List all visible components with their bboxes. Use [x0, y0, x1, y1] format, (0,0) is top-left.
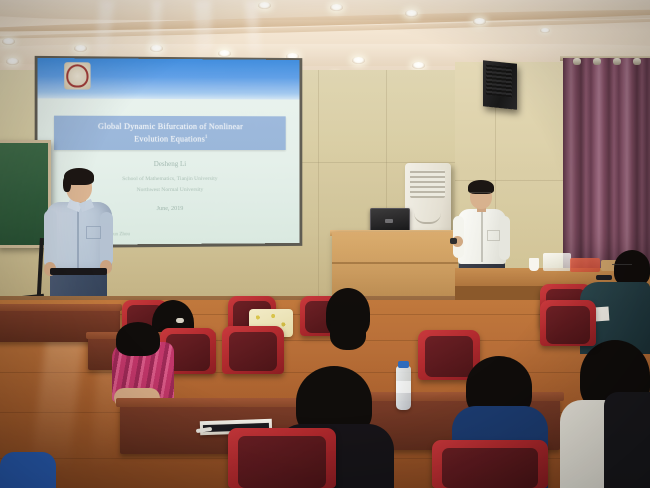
lecture-hall-photo: Global Dynamic Bifurcation of Nonlinear …: [0, 0, 650, 488]
downlight-icon: [74, 45, 87, 52]
paper-cup[interactable]: [529, 258, 539, 271]
seat-cushion: [238, 436, 326, 488]
presenter-left-hair: [63, 176, 71, 192]
slide-title-line-2: Evolution Equations1: [134, 132, 207, 145]
shirt-placket: [481, 212, 483, 262]
bottle-cap: [398, 361, 409, 368]
downlight-icon: [405, 10, 418, 17]
curtain-grommet: [633, 58, 641, 65]
marker-pen: [596, 275, 612, 280]
laptop-logo-icon: [385, 219, 393, 223]
downlight-icon: [218, 50, 231, 57]
presentation-clicker[interactable]: [450, 238, 457, 244]
speaker-grill: [486, 65, 512, 98]
presenter-left-arm: [44, 210, 57, 268]
downlight-icon: [6, 58, 19, 65]
presenter-left-arm: [100, 212, 113, 266]
audience-hair: [116, 322, 160, 356]
downlight-icon: [330, 4, 343, 11]
slide-title-line-1: Global Dynamic Bifurcation of Nonlinear: [98, 121, 243, 132]
downlight-icon: [473, 18, 486, 25]
desk-surface: [116, 398, 326, 407]
curtain-grommet: [613, 58, 621, 65]
audience-torso: [604, 392, 650, 488]
seat-cushion: [425, 336, 473, 377]
presenter-left-belt: [50, 268, 107, 275]
curtain-grommet: [593, 58, 601, 65]
downlight-icon: [258, 2, 271, 9]
seat-cushion: [546, 306, 590, 344]
slide-title-bar: Global Dynamic Bifurcation of Nonlinear …: [54, 116, 286, 150]
audience-hair: [330, 320, 366, 350]
downlight-icon: [2, 38, 15, 45]
eyeglasses-icon: [470, 192, 491, 198]
downlight-icon: [540, 28, 550, 33]
seat-cushion: [442, 448, 538, 488]
podium-groove: [332, 262, 458, 264]
university-emblem-icon: [64, 62, 90, 89]
downlight-icon: [352, 57, 365, 64]
seat-cushion: [229, 332, 277, 371]
eyeglasses-icon: [612, 264, 632, 269]
curtain-grommet: [573, 58, 581, 65]
downlight-icon: [150, 45, 163, 52]
shirt-pocket: [86, 226, 101, 239]
shirt-pocket: [487, 230, 500, 241]
hair-tie: [176, 318, 184, 323]
snack-package: [570, 258, 600, 272]
downlight-icon: [412, 62, 425, 69]
shirt-placket: [77, 206, 79, 268]
audience-torso: [0, 452, 56, 488]
plastic-bag: [543, 253, 571, 271]
slide-author: Desheng Li: [38, 160, 300, 168]
presenter-right-arm: [499, 216, 510, 260]
air-conditioner-vent: [410, 170, 445, 198]
desk-surface: [0, 304, 122, 311]
bottle-label: [396, 381, 411, 393]
